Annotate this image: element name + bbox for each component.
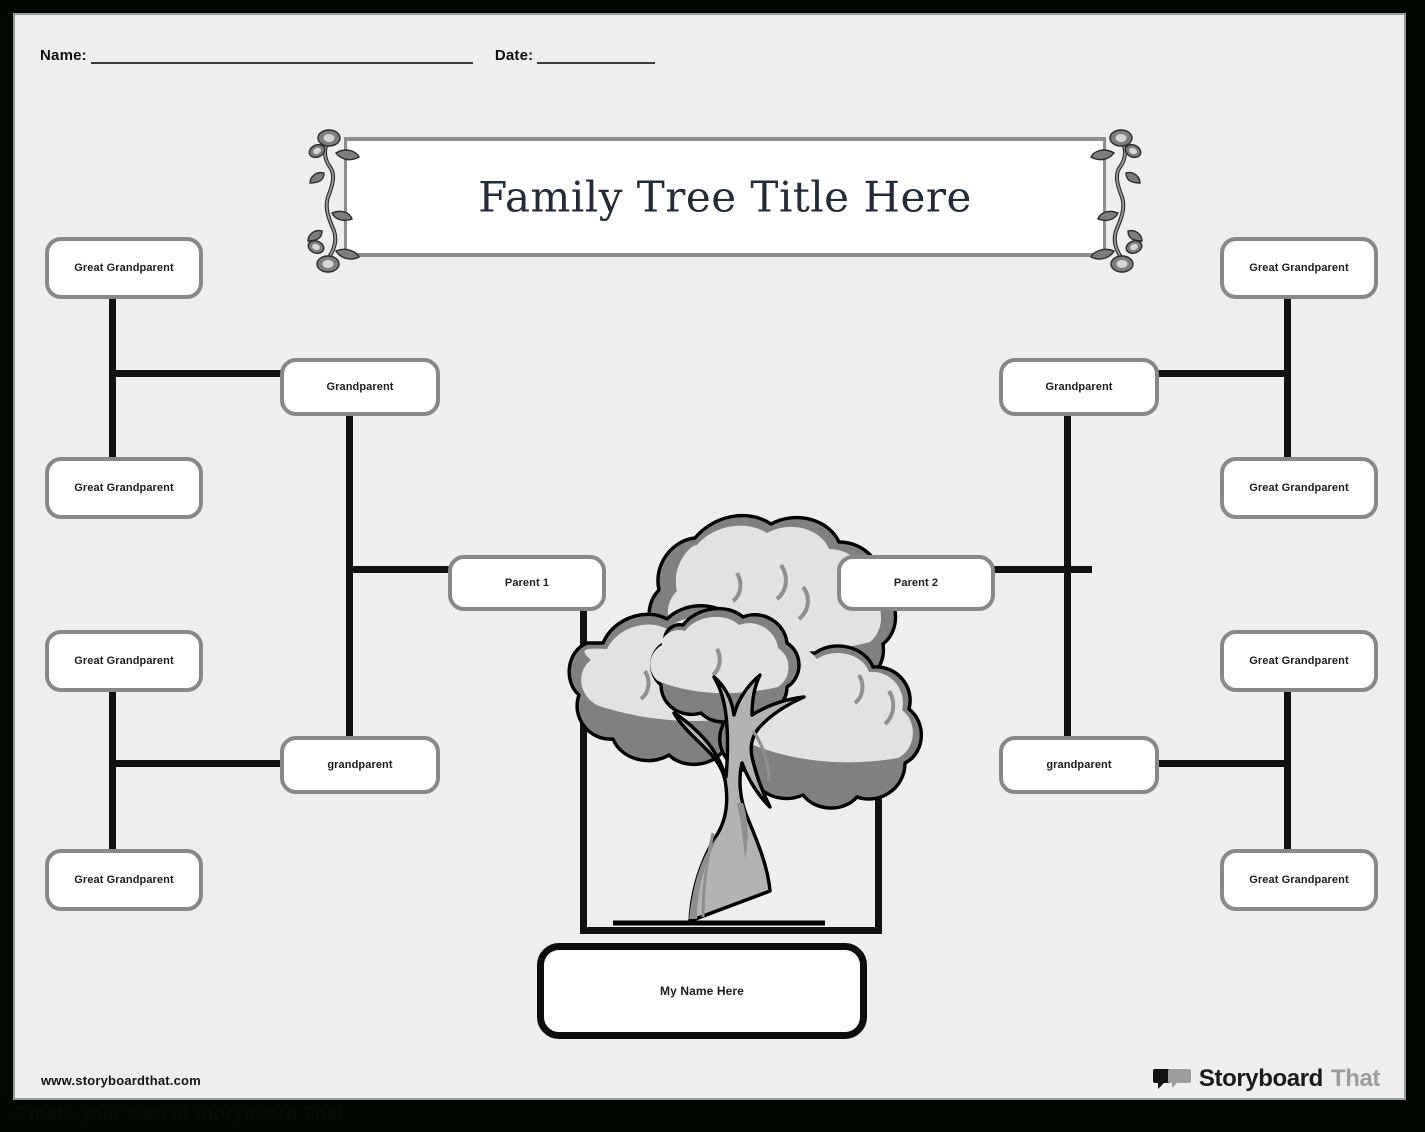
node-great-grandparent[interactable]: Great Grandparent xyxy=(1220,630,1378,692)
node-label: Grandparent xyxy=(326,381,393,393)
date-label: Date: xyxy=(495,47,538,64)
node-grandparent[interactable]: grandparent xyxy=(280,736,440,794)
title-banner-frame[interactable]: Family Tree Title Here xyxy=(346,137,1104,257)
node-label: Great Grandparent xyxy=(1249,655,1349,667)
node-great-grandparent[interactable]: Great Grandparent xyxy=(45,457,203,519)
connector-line xyxy=(1141,760,1291,767)
connector-line xyxy=(346,403,353,786)
node-label: Great Grandparent xyxy=(74,874,174,886)
page-title[interactable]: Family Tree Title Here xyxy=(346,173,1104,222)
rose-vine-icon xyxy=(1086,125,1148,275)
node-grandparent[interactable]: grandparent xyxy=(999,736,1159,794)
node-label: grandparent xyxy=(327,759,392,771)
tagline: Create your own at Storyboard That xyxy=(14,1104,344,1126)
node-label: Great Grandparent xyxy=(74,655,174,667)
node-great-grandparent[interactable]: Great Grandparent xyxy=(45,849,203,911)
worksheet-page: Name: Date: Family Tree Title Here xyxy=(13,13,1406,1100)
speech-bubbles-icon xyxy=(1153,1066,1191,1092)
logo-word-that: That xyxy=(1331,1065,1380,1093)
node-great-grandparent[interactable]: Great Grandparent xyxy=(1220,849,1378,911)
node-label: Great Grandparent xyxy=(1249,482,1349,494)
title-banner: Family Tree Title Here xyxy=(302,125,1148,273)
node-label: Parent 1 xyxy=(505,577,549,589)
rose-vine-icon xyxy=(302,125,364,275)
logo-word-storyboard: Storyboard xyxy=(1199,1065,1323,1093)
node-label: My Name Here xyxy=(660,984,744,998)
node-great-grandparent[interactable]: Great Grandparent xyxy=(45,630,203,692)
storyboardthat-logo[interactable]: StoryboardThat xyxy=(1153,1065,1380,1093)
node-label: Parent 2 xyxy=(894,577,938,589)
name-input[interactable] xyxy=(91,45,473,64)
connector-line xyxy=(980,566,1092,573)
node-grandparent[interactable]: Grandparent xyxy=(280,358,440,416)
node-label: grandparent xyxy=(1046,759,1111,771)
date-input[interactable] xyxy=(537,45,655,64)
website-url[interactable]: www.storyboardthat.com xyxy=(41,1073,201,1088)
node-great-grandparent[interactable]: Great Grandparent xyxy=(1220,457,1378,519)
name-label: Name: xyxy=(40,47,91,64)
node-label: Great Grandparent xyxy=(74,482,174,494)
connector-line xyxy=(1064,403,1071,786)
connector-line xyxy=(109,370,289,377)
node-label: Grandparent xyxy=(1045,381,1112,393)
node-label: Great Grandparent xyxy=(1249,262,1349,274)
node-great-grandparent[interactable]: Great Grandparent xyxy=(1220,237,1378,299)
worksheet-header: Name: Date: xyxy=(40,45,655,64)
node-label: Great Grandparent xyxy=(74,262,174,274)
node-parent-2[interactable]: Parent 2 xyxy=(837,555,995,611)
connector-line xyxy=(109,760,289,767)
connector-line xyxy=(346,566,456,573)
node-label: Great Grandparent xyxy=(1249,874,1349,886)
node-grandparent[interactable]: Grandparent xyxy=(999,358,1159,416)
node-great-grandparent[interactable]: Great Grandparent xyxy=(45,237,203,299)
node-self[interactable]: My Name Here xyxy=(537,943,867,1039)
connector-line xyxy=(1141,370,1291,377)
node-parent-1[interactable]: Parent 1 xyxy=(448,555,606,611)
